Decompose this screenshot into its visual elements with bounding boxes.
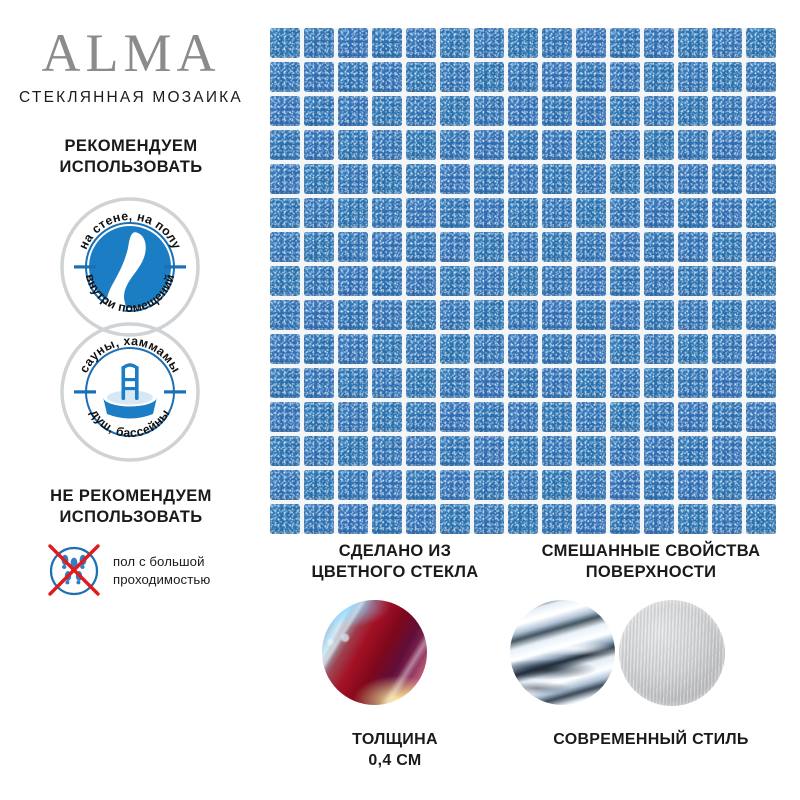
mosaic-tile	[644, 300, 674, 330]
surface-feature-heading-line2: ПОВЕРХНОСТИ	[586, 563, 717, 581]
mosaic-tile	[610, 130, 640, 160]
mosaic-tile	[746, 436, 776, 466]
mosaic-tile	[406, 436, 436, 466]
marble-swatch-swirls	[510, 600, 615, 705]
mosaic-tile	[610, 368, 640, 398]
mosaic-tile	[746, 470, 776, 500]
mosaic-tile	[372, 402, 402, 432]
mosaic-tile	[338, 130, 368, 160]
mosaic-tile	[338, 402, 368, 432]
mosaic-tile	[508, 198, 538, 228]
mosaic-tile	[644, 436, 674, 466]
mosaic-tile	[372, 96, 402, 126]
glass-feature-heading-line2: ЦВЕТНОГО СТЕКЛА	[311, 563, 478, 581]
mosaic-tile	[610, 164, 640, 194]
mosaic-tile	[338, 504, 368, 534]
mosaic-tile	[304, 232, 334, 262]
mosaic-tile	[576, 504, 606, 534]
mosaic-tile	[474, 62, 504, 92]
mosaic-tile	[372, 334, 402, 364]
brand-subtitle: стеклянная мозаика	[0, 89, 262, 107]
mosaic-tile	[440, 28, 470, 58]
mosaic-tile	[508, 402, 538, 432]
surface-feature-heading: СМЕШАННЫЕ СВОЙСТВА ПОВЕРХНОСТИ	[510, 541, 792, 583]
mosaic-tile	[610, 334, 640, 364]
mosaic-tile	[304, 130, 334, 160]
mosaic-tile	[576, 28, 606, 58]
glass-feature-heading-line1: СДЕЛАНО ИЗ	[339, 542, 451, 560]
mosaic-tile	[474, 504, 504, 534]
mosaic-tile	[678, 198, 708, 228]
mosaic-tile	[508, 232, 538, 262]
mosaic-tile	[576, 402, 606, 432]
mosaic-tile	[576, 232, 606, 262]
mosaic-tile	[508, 164, 538, 194]
mosaic-tile	[304, 266, 334, 296]
mosaic-tile	[440, 198, 470, 228]
mosaic-tile	[746, 504, 776, 534]
not-recommended-heading-line2: ИСПОЛЬЗОВАТЬ	[60, 508, 203, 526]
mosaic-tile	[644, 130, 674, 160]
mosaic-tile	[678, 470, 708, 500]
mosaic-tile	[746, 402, 776, 432]
mosaic-tile	[712, 300, 742, 330]
mosaic-tile	[508, 96, 538, 126]
mosaic-tile	[474, 96, 504, 126]
mosaic-tile	[542, 96, 572, 126]
mosaic-tile	[712, 96, 742, 126]
mosaic-tile	[712, 266, 742, 296]
recommended-heading-line2: ИСПОЛЬЗОВАТЬ	[60, 158, 203, 176]
mosaic-tile	[270, 62, 300, 92]
mosaic-tile	[712, 334, 742, 364]
not-recommended-item: пол с большой проходимостью	[44, 540, 259, 602]
mosaic-tile	[610, 470, 640, 500]
mosaic-tile	[542, 402, 572, 432]
mosaic-tile	[270, 198, 300, 228]
mosaic-tile	[474, 436, 504, 466]
mosaic-tile	[474, 28, 504, 58]
mosaic-tile	[406, 504, 436, 534]
mosaic-tile	[474, 470, 504, 500]
mosaic-tile	[678, 62, 708, 92]
mosaic-tile	[406, 164, 436, 194]
mosaic-tile	[746, 130, 776, 160]
mosaic-tile	[406, 96, 436, 126]
mosaic-tile	[644, 28, 674, 58]
mosaic-tile	[406, 28, 436, 58]
mosaic-tile	[712, 402, 742, 432]
mosaic-tile	[712, 470, 742, 500]
mosaic-tile	[746, 368, 776, 398]
mosaic-tile	[304, 368, 334, 398]
mosaic-tile	[304, 62, 334, 92]
mosaic-tile	[338, 300, 368, 330]
mosaic-tile	[474, 402, 504, 432]
mosaic-tile	[338, 266, 368, 296]
not-recommended-label-line2: проходимостью	[113, 572, 210, 587]
red-cross-icon	[50, 546, 98, 594]
mosaic-tile	[440, 300, 470, 330]
mosaic-tile	[440, 470, 470, 500]
mosaic-tile	[304, 504, 334, 534]
style-caption: СОВРЕМЕННЫЙ СТИЛЬ	[510, 730, 792, 751]
mosaic-tile	[644, 232, 674, 262]
mosaic-tile	[508, 130, 538, 160]
mosaic-tile	[440, 504, 470, 534]
mosaic-tile	[610, 96, 640, 126]
mosaic-tile	[270, 504, 300, 534]
mosaic-tile	[678, 334, 708, 364]
mosaic-tile	[406, 266, 436, 296]
mosaic-tile	[406, 198, 436, 228]
mosaic-tile	[746, 164, 776, 194]
badge-sauna-pool-graphic: сауны, хаммамы душ, бассейны	[60, 322, 200, 462]
mosaic-tile	[542, 28, 572, 58]
mosaic-tile	[508, 266, 538, 296]
mosaic-tile	[304, 300, 334, 330]
mosaic-tile	[440, 266, 470, 296]
mosaic-tile	[576, 198, 606, 228]
mosaic-tile	[644, 266, 674, 296]
mosaic-tile	[406, 232, 436, 262]
mosaic-tile	[746, 96, 776, 126]
mosaic-tile	[270, 130, 300, 160]
mosaic-tile	[406, 402, 436, 432]
mosaic-tile	[644, 402, 674, 432]
badge-indoor-wall-floor-graphic: на стене, на полу внутри помещений	[60, 197, 200, 337]
mosaic-tile	[542, 504, 572, 534]
mosaic-tile	[372, 164, 402, 194]
mosaic-tile	[304, 198, 334, 228]
mosaic-tile	[746, 266, 776, 296]
mosaic-tile	[542, 62, 572, 92]
mosaic-tile	[372, 436, 402, 466]
mosaic-tile	[270, 368, 300, 398]
recommended-heading: РЕКОМЕНДУЕМ ИСПОЛЬЗОВАТЬ	[0, 136, 262, 178]
not-recommended-label: пол с большой проходимостью	[113, 553, 210, 588]
mosaic-tile	[372, 470, 402, 500]
mosaic-tile	[338, 334, 368, 364]
mosaic-tile	[270, 300, 300, 330]
mosaic-tile	[576, 62, 606, 92]
badge-tick-right	[164, 265, 186, 268]
mosaic-tile	[474, 164, 504, 194]
mosaic-tile	[712, 368, 742, 398]
mosaic-tile	[644, 504, 674, 534]
brand-name: ALMA	[0, 26, 262, 80]
mosaic-tile	[304, 436, 334, 466]
mosaic-tile	[270, 470, 300, 500]
mosaic-tile	[542, 198, 572, 228]
mosaic-tile	[576, 130, 606, 160]
mosaic-tile	[542, 266, 572, 296]
mosaic-tile	[508, 300, 538, 330]
mosaic-tile	[304, 470, 334, 500]
mosaic-tile	[542, 470, 572, 500]
mosaic-tile	[372, 300, 402, 330]
mosaic-tile	[338, 164, 368, 194]
mosaic-tile	[270, 334, 300, 364]
style-caption-text: СОВРЕМЕННЫЙ СТИЛЬ	[553, 731, 748, 748]
mosaic-tile	[474, 266, 504, 296]
mosaic-tile	[712, 28, 742, 58]
mosaic-tile	[576, 164, 606, 194]
mosaic-tile	[678, 300, 708, 330]
mosaic-tile	[610, 232, 640, 262]
mosaic-tile	[440, 436, 470, 466]
mosaic-tile	[474, 368, 504, 398]
mosaic-tile	[338, 62, 368, 92]
mosaic-tile	[440, 62, 470, 92]
mosaic-tile	[576, 368, 606, 398]
mosaic-tile	[474, 232, 504, 262]
mosaic-tile	[712, 436, 742, 466]
mosaic-tile	[576, 266, 606, 296]
mosaic-tile	[372, 62, 402, 92]
brand-logo: ALMA стеклянная мозаика	[0, 26, 262, 107]
mosaic-tile	[644, 62, 674, 92]
mosaic-tile	[678, 504, 708, 534]
mosaic-tile	[678, 28, 708, 58]
badge-tick-left	[74, 390, 96, 393]
mosaic-tile	[372, 28, 402, 58]
mosaic-tile	[338, 470, 368, 500]
colored-glass-swatch	[322, 600, 427, 705]
mosaic-tile	[338, 28, 368, 58]
mosaic-tile	[746, 334, 776, 364]
mosaic-tile	[644, 368, 674, 398]
mosaic-tile	[712, 62, 742, 92]
mosaic-tile-grid	[270, 28, 776, 534]
mosaic-tile	[678, 266, 708, 296]
mosaic-tile	[610, 28, 640, 58]
mosaic-tile	[542, 130, 572, 160]
mosaic-tile	[304, 28, 334, 58]
mosaic-tile	[712, 164, 742, 194]
mosaic-tile	[440, 164, 470, 194]
mosaic-tile	[508, 368, 538, 398]
mosaic-tile	[746, 232, 776, 262]
mosaic-tile	[644, 164, 674, 194]
badge-sauna-pool: сауны, хаммамы душ, бассейны	[60, 322, 200, 462]
mosaic-tile	[440, 96, 470, 126]
mosaic-tile	[270, 96, 300, 126]
mosaic-tile	[440, 334, 470, 364]
mosaic-tile	[508, 504, 538, 534]
mosaic-tile	[440, 130, 470, 160]
mosaic-tile	[440, 232, 470, 262]
mosaic-tile	[644, 198, 674, 228]
mosaic-tile	[406, 130, 436, 160]
mosaic-tile	[576, 334, 606, 364]
mosaic-tile	[338, 198, 368, 228]
thickness-label: ТОЛЩИНА	[352, 731, 438, 748]
mosaic-tile	[372, 130, 402, 160]
glass-swatch-highlights	[322, 600, 427, 705]
not-recommended-heading: НЕ РЕКОМЕНДУЕМ ИСПОЛЬЗОВАТЬ	[0, 486, 262, 528]
mosaic-tile	[440, 368, 470, 398]
mosaic-tile	[746, 300, 776, 330]
marbled-surface-swatch	[510, 600, 615, 705]
mosaic-tile	[678, 436, 708, 466]
mosaic-tile	[440, 402, 470, 432]
mosaic-tile	[304, 402, 334, 432]
mosaic-tile	[338, 436, 368, 466]
surface-swatches	[510, 600, 745, 708]
mosaic-tile	[678, 130, 708, 160]
mosaic-tile	[270, 164, 300, 194]
mosaic-tile	[406, 300, 436, 330]
mosaic-tile	[338, 232, 368, 262]
badge-tick-right	[164, 390, 186, 393]
mosaic-tile	[542, 334, 572, 364]
mosaic-tile	[576, 470, 606, 500]
mosaic-tile	[372, 504, 402, 534]
glass-feature-heading: СДЕЛАНО ИЗ ЦВЕТНОГО СТЕКЛА	[268, 541, 522, 583]
mosaic-tile	[610, 436, 640, 466]
mosaic-tile	[372, 368, 402, 398]
thickness-caption: ТОЛЩИНА 0,4 см	[268, 730, 522, 772]
crossed-footprints-icon	[44, 541, 104, 601]
recommended-heading-line1: РЕКОМЕНДУЕМ	[65, 137, 198, 155]
mosaic-tile	[610, 62, 640, 92]
mosaic-tile	[610, 300, 640, 330]
brushed-metal-surface-swatch	[619, 600, 725, 706]
mosaic-tile	[474, 198, 504, 228]
mosaic-tile	[372, 198, 402, 228]
mosaic-tile	[712, 504, 742, 534]
mosaic-tile	[508, 28, 538, 58]
mosaic-tile	[746, 62, 776, 92]
mosaic-tile	[644, 96, 674, 126]
mosaic-tile	[474, 300, 504, 330]
mosaic-tile	[576, 96, 606, 126]
mosaic-tile	[474, 334, 504, 364]
mosaic-tile	[712, 232, 742, 262]
mosaic-tile	[644, 470, 674, 500]
badge-indoor-wall-floor: на стене, на полу внутри помещений	[60, 197, 200, 337]
mosaic-tile	[270, 266, 300, 296]
mosaic-tile	[542, 300, 572, 330]
mosaic-tile	[508, 334, 538, 364]
mosaic-tile	[576, 436, 606, 466]
mosaic-tile	[508, 62, 538, 92]
mosaic-tile	[304, 96, 334, 126]
mosaic-tile	[406, 62, 436, 92]
mosaic-tile	[270, 232, 300, 262]
mosaic-tile	[610, 266, 640, 296]
mosaic-tile	[746, 28, 776, 58]
mosaic-tile	[644, 334, 674, 364]
mosaic-tile	[576, 300, 606, 330]
mosaic-tile	[270, 436, 300, 466]
mosaic-tile	[304, 334, 334, 364]
mosaic-tile	[542, 436, 572, 466]
mosaic-tile	[338, 368, 368, 398]
mosaic-tile	[508, 436, 538, 466]
badge-tick-left	[74, 265, 96, 268]
mosaic-tile	[610, 198, 640, 228]
mosaic-tile	[542, 368, 572, 398]
mosaic-tile	[678, 368, 708, 398]
mosaic-tile	[678, 402, 708, 432]
product-infographic: ALMA стеклянная мозаика РЕКОМЕНДУЕМ ИСПО…	[0, 0, 800, 800]
mosaic-tile	[270, 28, 300, 58]
mosaic-tile	[508, 470, 538, 500]
mosaic-tile	[406, 470, 436, 500]
mosaic-tile	[678, 232, 708, 262]
mosaic-tile	[712, 130, 742, 160]
mosaic-tile	[746, 198, 776, 228]
not-recommended-label-line1: пол с большой	[113, 554, 205, 569]
mosaic-tile	[270, 402, 300, 432]
mosaic-tile	[610, 504, 640, 534]
mosaic-tile	[304, 164, 334, 194]
mosaic-tile	[678, 164, 708, 194]
mosaic-tile	[406, 334, 436, 364]
mosaic-tile	[610, 402, 640, 432]
thickness-value: 0,4 см	[368, 752, 421, 769]
mosaic-tile	[474, 130, 504, 160]
not-recommended-heading-line1: НЕ РЕКОМЕНДУЕМ	[50, 487, 212, 505]
mosaic-tile	[678, 96, 708, 126]
mosaic-tile	[406, 368, 436, 398]
mosaic-tile	[372, 266, 402, 296]
mosaic-tile	[712, 198, 742, 228]
mosaic-tile	[542, 232, 572, 262]
mosaic-tile	[338, 96, 368, 126]
mosaic-tile	[372, 232, 402, 262]
surface-feature-heading-line1: СМЕШАННЫЕ СВОЙСТВА	[542, 542, 761, 560]
mosaic-tile	[542, 164, 572, 194]
